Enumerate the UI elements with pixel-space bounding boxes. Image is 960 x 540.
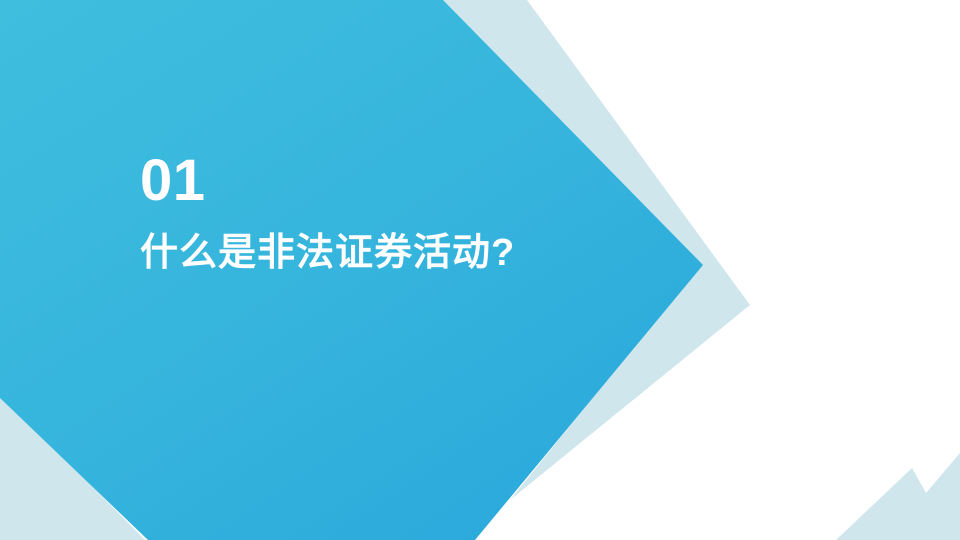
section-number: 01 (140, 152, 660, 210)
section-title: 什么是非法证券活动? (140, 234, 660, 274)
section-heading-block: 01 什么是非法证券活动? (140, 152, 660, 274)
slide-canvas: 01 什么是非法证券活动? (0, 0, 960, 540)
light-blue-mountain-corner (836, 453, 960, 540)
